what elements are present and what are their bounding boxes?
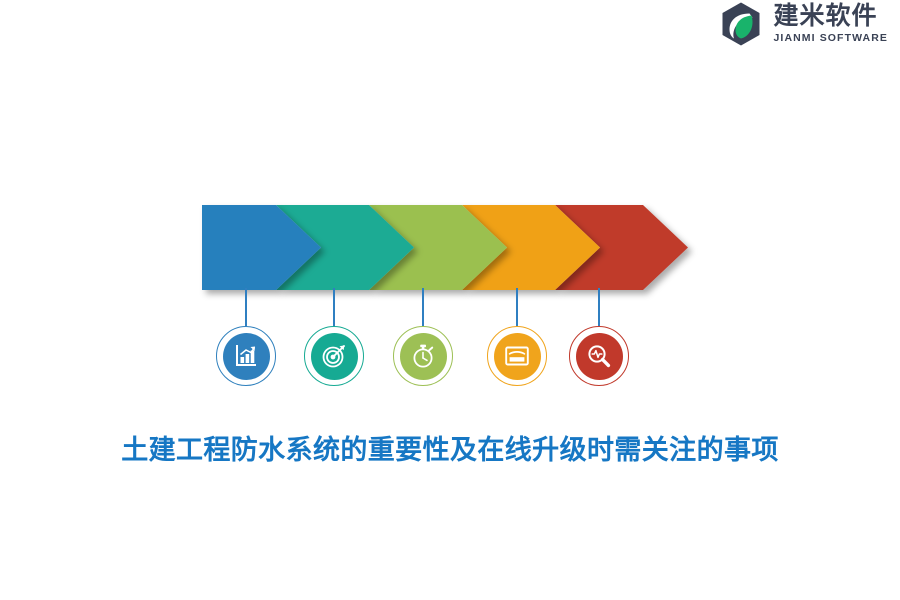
icon-ring-2 xyxy=(304,326,364,386)
chevron-group xyxy=(200,205,690,290)
process-icon-node-4[interactable] xyxy=(487,326,547,386)
icon-ring-4 xyxy=(487,326,547,386)
page-title: 土建工程防水系统的重要性及在线升级时需关注的事项 xyxy=(0,428,900,467)
presentation-board-icon xyxy=(494,333,541,380)
bar-chart-growth-icon xyxy=(223,333,270,380)
brand-logo: 建米软件 JIANMI SOFTWARE xyxy=(718,0,888,48)
process-chevron-band xyxy=(200,205,690,290)
process-icon-row xyxy=(200,326,690,388)
hexagon-leaf-logo-icon xyxy=(718,1,764,47)
connector-stem-4 xyxy=(516,288,518,326)
connector-stem-2 xyxy=(333,288,335,326)
brand-name-cn: 建米软件 xyxy=(773,4,888,29)
connector-stem-5 xyxy=(598,288,600,326)
connector-stem-3 xyxy=(422,288,424,326)
stopwatch-timer-icon xyxy=(400,333,447,380)
target-dartboard-icon xyxy=(311,333,358,380)
process-icon-node-5[interactable] xyxy=(569,326,629,386)
connector-stem-1 xyxy=(245,288,247,326)
brand-name-en: JIANMI SOFTWARE xyxy=(773,33,888,44)
icon-ring-3 xyxy=(393,326,453,386)
brand-text-block: 建米软件 JIANMI SOFTWARE xyxy=(773,4,888,44)
process-icon-node-2[interactable] xyxy=(304,326,364,386)
icon-ring-1 xyxy=(216,326,276,386)
icon-ring-5 xyxy=(569,326,629,386)
process-icon-node-1[interactable] xyxy=(216,326,276,386)
magnifier-pulse-icon xyxy=(576,333,623,380)
process-icon-node-3[interactable] xyxy=(393,326,453,386)
connector-lines xyxy=(200,288,690,328)
